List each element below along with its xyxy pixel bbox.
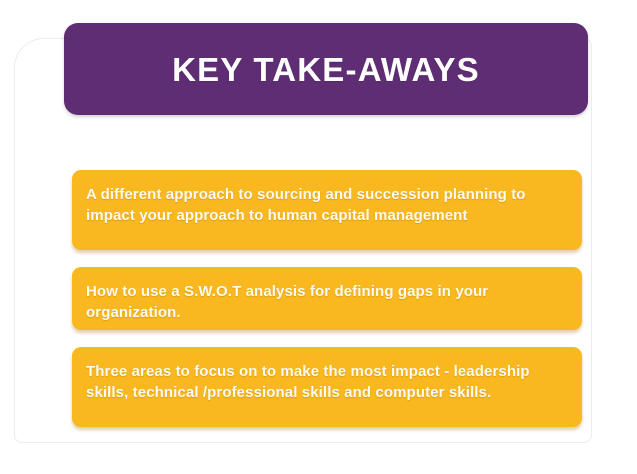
takeaway-text-2: How to use a S.W.O.T analysis for defini…: [86, 281, 566, 324]
slide-canvas: KEY TAKE-AWAYS A different approach to s…: [0, 0, 637, 474]
takeaway-list: A different approach to sourcing and suc…: [72, 170, 582, 427]
takeaway-item-3: Three areas to focus on to make the most…: [72, 347, 582, 427]
takeaway-item-1: A different approach to sourcing and suc…: [72, 170, 582, 250]
page-title: KEY TAKE-AWAYS: [172, 53, 480, 86]
takeaway-text-3: Three areas to focus on to make the most…: [86, 361, 566, 404]
takeaway-item-2: How to use a S.W.O.T analysis for defini…: [72, 267, 582, 330]
title-banner: KEY TAKE-AWAYS: [64, 23, 588, 115]
takeaway-text-1: A different approach to sourcing and suc…: [86, 184, 566, 227]
